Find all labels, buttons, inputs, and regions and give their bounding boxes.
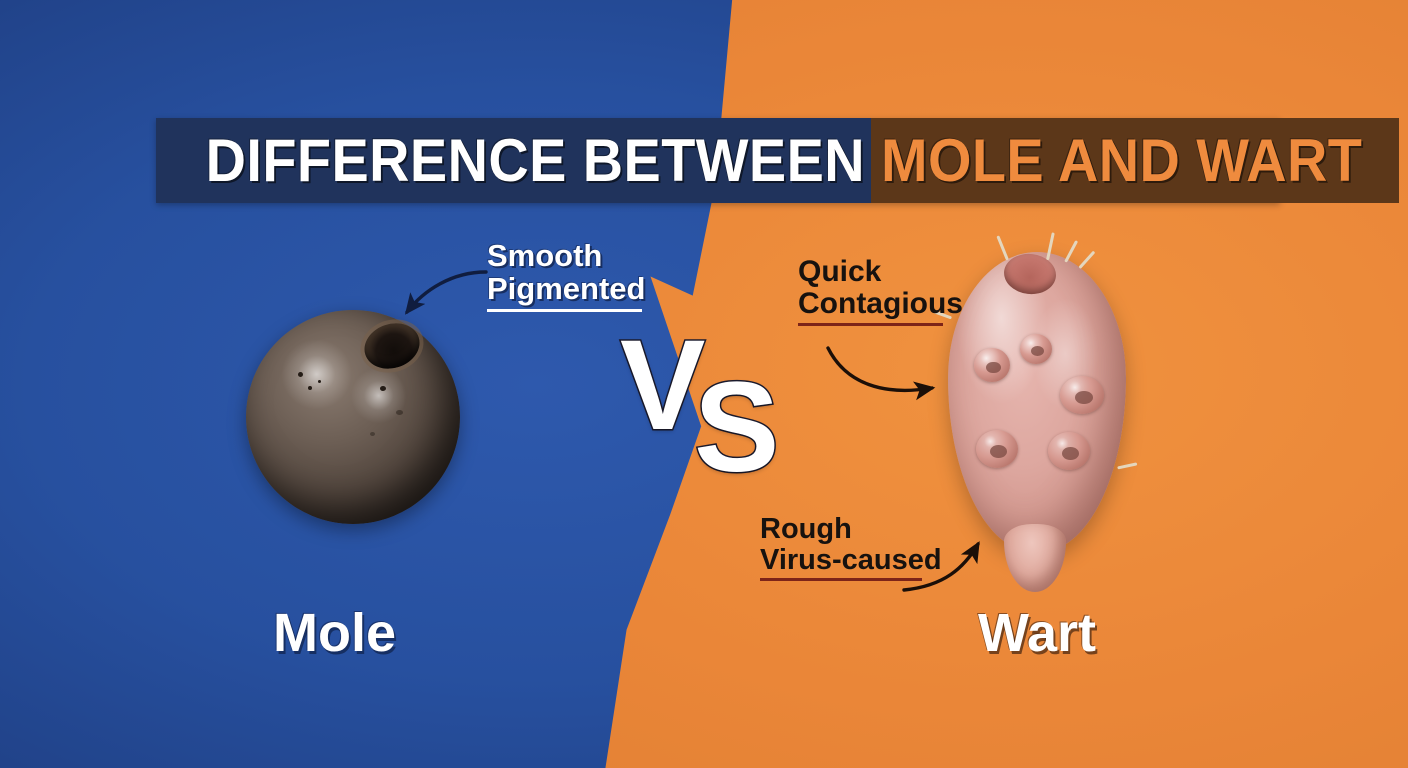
label-mole-traits: Smooth Pigmented: [487, 240, 645, 312]
label-underline: [487, 309, 642, 312]
wart-opening-icon: [1002, 251, 1058, 296]
infographic-canvas: DIFFERENCE BETWEEN MOLE AND WART V S: [0, 0, 1408, 768]
title-accent: MOLE AND WART: [881, 131, 1362, 191]
mole-speck: [396, 410, 403, 415]
label-underline: [760, 578, 922, 581]
title-banner-left: DIFFERENCE BETWEEN: [156, 118, 871, 203]
mole-speck: [298, 372, 303, 377]
wart-nodule: [974, 348, 1010, 382]
label-mole-trait-2: Pigmented: [487, 273, 645, 306]
mole-illustration: [246, 310, 460, 524]
label-wart-traits-top: Quick Contagious: [798, 256, 963, 326]
title-banner-right: MOLE AND WART: [871, 118, 1399, 203]
title-primary: DIFFERENCE BETWEEN: [206, 131, 865, 191]
caption-wart: Wart: [978, 606, 1096, 660]
wart-nodule: [1060, 376, 1104, 414]
mole-speck: [308, 386, 312, 390]
wart-nodule: [1020, 334, 1052, 364]
label-underline: [798, 323, 943, 326]
caption-mole: Mole: [273, 606, 396, 660]
mole-speck: [380, 386, 386, 391]
label-mole-trait-1: Smooth: [487, 240, 645, 273]
label-wart-traits-bottom: Rough Virus-caused: [760, 514, 942, 581]
label-wart-trait-3: Rough: [760, 514, 942, 545]
label-wart-trait-1: Quick: [798, 256, 963, 288]
wart-nodule: [1048, 432, 1090, 470]
mole-speck: [318, 380, 321, 383]
label-wart-trait-4: Virus-caused: [760, 545, 942, 576]
title-banner: DIFFERENCE BETWEEN MOLE AND WART: [156, 118, 1280, 203]
label-wart-trait-2: Contagious: [798, 288, 963, 320]
wart-nodule: [976, 430, 1018, 468]
mole-speck: [370, 432, 375, 436]
